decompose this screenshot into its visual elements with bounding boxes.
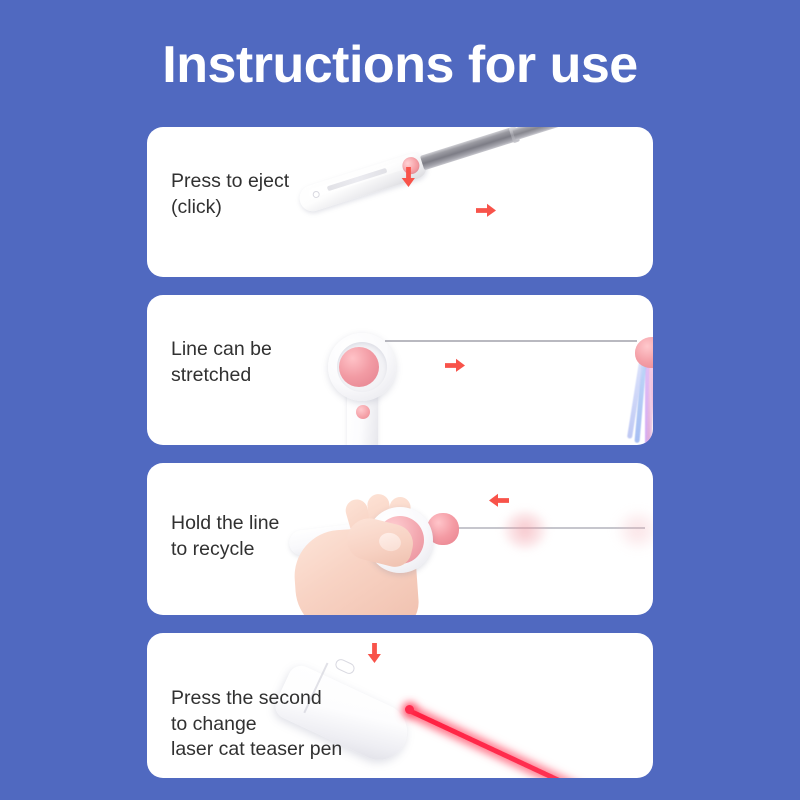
instruction-card-laser-mode: Press the second to change laser cat tea… (147, 633, 653, 778)
stretched-line (385, 340, 637, 342)
pen-head-illustration (325, 333, 399, 445)
right-arrow-icon (476, 203, 496, 218)
down-arrow-icon (401, 167, 416, 187)
instruction-card-line-stretched: Line can be stretched (147, 295, 653, 445)
right-arrow-icon (445, 358, 465, 373)
hand-holding-pen-illustration (293, 485, 453, 615)
instruction-card-list: Press to eject (click) Line can be stret… (147, 127, 653, 796)
motion-blur-ball (503, 511, 547, 549)
left-arrow-icon (489, 493, 509, 508)
pink-ball (339, 347, 379, 387)
motion-blur-ball (617, 512, 653, 548)
instruction-card-hold-to-recycle: Hold the line to recycle (147, 463, 653, 615)
pink-button (356, 405, 370, 419)
laser-emitter (405, 705, 414, 714)
laser-mode-button (334, 657, 357, 675)
step-4-text: Press the second to change laser cat tea… (171, 686, 342, 763)
step-1-text: Press to eject (click) (171, 169, 289, 220)
step-3-text: Hold the line to recycle (171, 511, 279, 562)
instruction-card-press-to-eject: Press to eject (click) (147, 127, 653, 277)
laser-beam (408, 708, 653, 778)
tassel-illustration (617, 333, 653, 445)
telescoping-wand-illustration (299, 135, 649, 265)
page-title: Instructions for use (0, 0, 800, 93)
step-2-text: Line can be stretched (171, 337, 272, 388)
down-arrow-icon (367, 643, 382, 663)
